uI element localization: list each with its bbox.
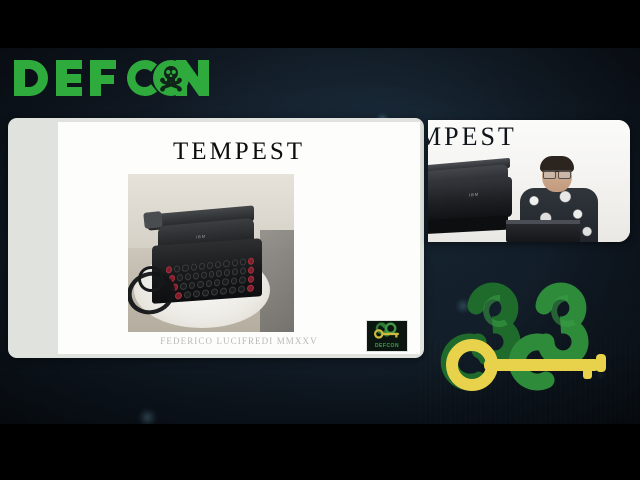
letterbox-top: [0, 0, 640, 48]
typewriter-platen: [143, 211, 163, 229]
slide-canvas: TEMPEST IBM: [58, 122, 420, 354]
glasses-icon: [543, 170, 571, 177]
lectern: [506, 220, 580, 242]
presentation-slide-panel[interactable]: TEMPEST IBM: [8, 118, 424, 358]
video-stream-frame: ® TEMPEST IBM: [0, 0, 640, 480]
typewriter-photo: IBM: [128, 174, 294, 332]
slide-defcon-badge: DEFCON: [366, 320, 408, 352]
typewriter-brand-label: IBM: [196, 234, 206, 240]
projected-typewriter-brand: IBM: [469, 192, 479, 198]
letterbox-bottom: [0, 424, 640, 480]
projected-typewriter-base: [428, 216, 508, 235]
badge-label: DEFCON: [367, 343, 407, 349]
defcon-33-logo: [440, 262, 626, 412]
defcon-33-key-icon: [367, 321, 407, 343]
speaker-webcam-panel[interactable]: MPEST IBM: [428, 120, 630, 242]
projected-screen: MPEST IBM: [428, 120, 630, 242]
slide-title: TEMPEST: [58, 138, 420, 166]
defcon-logo: [12, 56, 212, 100]
lectern-top: [506, 220, 580, 224]
projected-slide-title: MPEST: [428, 122, 517, 152]
